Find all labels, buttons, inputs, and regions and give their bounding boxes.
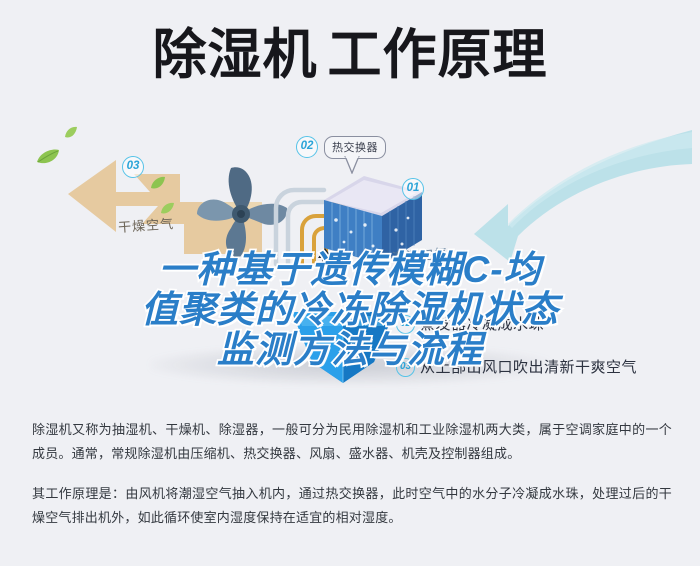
leaf-icon (64, 126, 78, 139)
page-title-part2: 工作原理 (328, 25, 548, 85)
diagram-badge-03: 03 (122, 156, 144, 178)
diagram-badge-02: 02 (296, 136, 318, 158)
article-paragraph-2: 其工作原理是：由风机将潮湿空气抽入机内，通过热交换器，此时空气中的水分子冷凝成水… (32, 482, 672, 530)
page-title: 除湿机工作原理 (0, 24, 700, 86)
overlay-title-line-2: 值聚类的冷冻除湿机状态 (0, 290, 700, 330)
overlay-watermark-title: 一种基于遗传模糊C-均 值聚类的冷冻除湿机状态 监测方法与流程 (0, 250, 700, 370)
callout-pointer-icon (344, 156, 360, 174)
overlay-title-line-1: 一种基于遗传模糊C-均 (0, 250, 700, 290)
overlay-title-line-3: 监测方法与流程 (0, 330, 700, 370)
article-body: 除湿机又称为抽湿机、干燥机、除湿器，一般可分为民用除湿机和工业除湿机两大类，属于… (32, 418, 672, 530)
page-root: 除湿机工作原理 (0, 0, 700, 566)
article-paragraph-1: 除湿机又称为抽湿机、干燥机、除湿器，一般可分为民用除湿机和工业除湿机两大类，属于… (32, 418, 672, 466)
leaf-icon (36, 148, 60, 166)
label-dry-air: 干燥空气 (117, 213, 174, 236)
page-title-part1: 除湿机 (153, 25, 318, 85)
diagram-badge-01: 01 (402, 178, 424, 200)
leaf-icon (150, 176, 166, 190)
